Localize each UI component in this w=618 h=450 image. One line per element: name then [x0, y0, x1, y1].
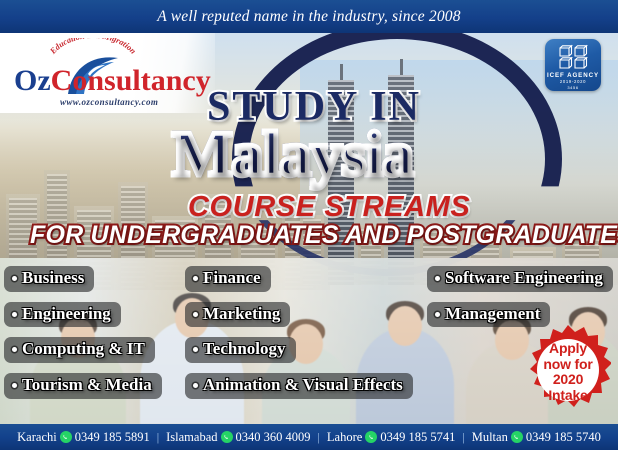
course-label: Tourism & Media	[22, 375, 152, 396]
tagline-text: A well reputed name in the industry, sin…	[157, 8, 460, 26]
course-label: Marketing	[203, 304, 280, 325]
course-item-software-engineering[interactable]: Software Engineering	[427, 266, 613, 292]
course-item-marketing[interactable]: Marketing	[185, 302, 290, 328]
contact-multan[interactable]: Multan 0349 185 5740	[472, 430, 601, 445]
headline-malaysia: Malaysia	[172, 122, 413, 186]
course-item-animation-visual-effects[interactable]: Animation & Visual Effects	[185, 373, 413, 399]
contact-karachi[interactable]: Karachi 0349 185 5891	[17, 430, 150, 445]
bullet-icon	[435, 312, 440, 317]
whatsapp-icon[interactable]	[221, 431, 233, 443]
bullet-icon	[193, 347, 198, 352]
course-item-technology[interactable]: Technology	[185, 337, 296, 363]
apply-line-3: 2020	[525, 372, 611, 388]
contact-bar: Karachi 0349 185 5891 | Islamabad 0340 3…	[0, 424, 618, 450]
contact-separator: |	[150, 430, 166, 445]
contact-city: Karachi	[17, 430, 57, 445]
headline-for-undergraduates: FOR UNDERGRADUATES AND POSTGRADUATES	[30, 223, 618, 248]
bullet-icon	[12, 347, 17, 352]
bullet-icon	[12, 312, 17, 317]
course-label: Computing & IT	[22, 339, 145, 360]
icef-code: 3456	[545, 86, 601, 91]
logo-wordmark: OzConsultancy	[14, 66, 214, 96]
whatsapp-icon[interactable]	[365, 431, 377, 443]
icef-cubes-icon	[557, 44, 589, 72]
course-column-1: Business Engineering Computing & IT Tour…	[4, 266, 162, 409]
bullet-icon	[12, 276, 17, 281]
promotional-banner: A well reputed name in the industry, sin…	[0, 0, 618, 450]
course-column-2: Finance Marketing Technology Animation &…	[185, 266, 413, 409]
course-label: Engineering	[22, 304, 111, 325]
course-item-business[interactable]: Business	[4, 266, 94, 292]
contact-separator: |	[455, 430, 471, 445]
contact-phone: 0349 185 5891	[75, 430, 150, 445]
whatsapp-icon[interactable]	[511, 431, 523, 443]
contact-islamabad[interactable]: Islamabad 0340 360 4009	[166, 430, 310, 445]
course-label: Technology	[203, 339, 286, 360]
apply-line-2: now for	[525, 357, 611, 373]
contact-city: Multan	[472, 430, 508, 445]
bullet-icon	[12, 383, 17, 388]
course-label: Business	[22, 268, 84, 289]
course-item-engineering[interactable]: Engineering	[4, 302, 121, 328]
top-tagline-bar: A well reputed name in the industry, sin…	[0, 0, 618, 33]
contact-city: Lahore	[327, 430, 362, 445]
logo-website-url: www.ozconsultancy.com	[60, 97, 158, 107]
contact-separator: |	[311, 430, 327, 445]
bullet-icon	[435, 276, 440, 281]
course-item-management[interactable]: Management	[427, 302, 550, 328]
logo-word-oz: Oz	[14, 64, 51, 97]
contact-lahore[interactable]: Lahore 0349 185 5741	[327, 430, 455, 445]
course-item-computing-it[interactable]: Computing & IT	[4, 337, 155, 363]
contact-phone: 0349 185 5741	[380, 430, 455, 445]
apply-line-4: Intake	[525, 388, 611, 404]
apply-badge-text: Apply now for 2020 Intake	[525, 341, 611, 403]
contact-phone: 0349 185 5740	[526, 430, 601, 445]
apply-now-badge[interactable]: Apply now for 2020 Intake	[525, 325, 611, 415]
logo-word-consultancy: onsultancy	[72, 64, 210, 97]
bullet-icon	[193, 383, 198, 388]
headline-course-streams: COURSE STREAMS	[188, 193, 470, 222]
course-item-finance[interactable]: Finance	[185, 266, 271, 292]
course-label: Management	[445, 304, 540, 325]
company-logo[interactable]: Education and Migration OzConsultancy ww…	[8, 36, 213, 114]
icef-agency-badge: ICEF AGENCY 2019-2020 3456	[545, 39, 601, 91]
course-item-tourism-media[interactable]: Tourism & Media	[4, 373, 162, 399]
course-label: Finance	[203, 268, 261, 289]
bullet-icon	[193, 276, 198, 281]
contact-city: Islamabad	[166, 430, 217, 445]
course-label: Software Engineering	[445, 268, 603, 289]
whatsapp-icon[interactable]	[60, 431, 72, 443]
apply-line-1: Apply	[525, 341, 611, 357]
course-label: Animation & Visual Effects	[203, 375, 403, 396]
bullet-icon	[193, 312, 198, 317]
contact-phone: 0340 360 4009	[236, 430, 311, 445]
logo-word-c: C	[51, 64, 73, 97]
